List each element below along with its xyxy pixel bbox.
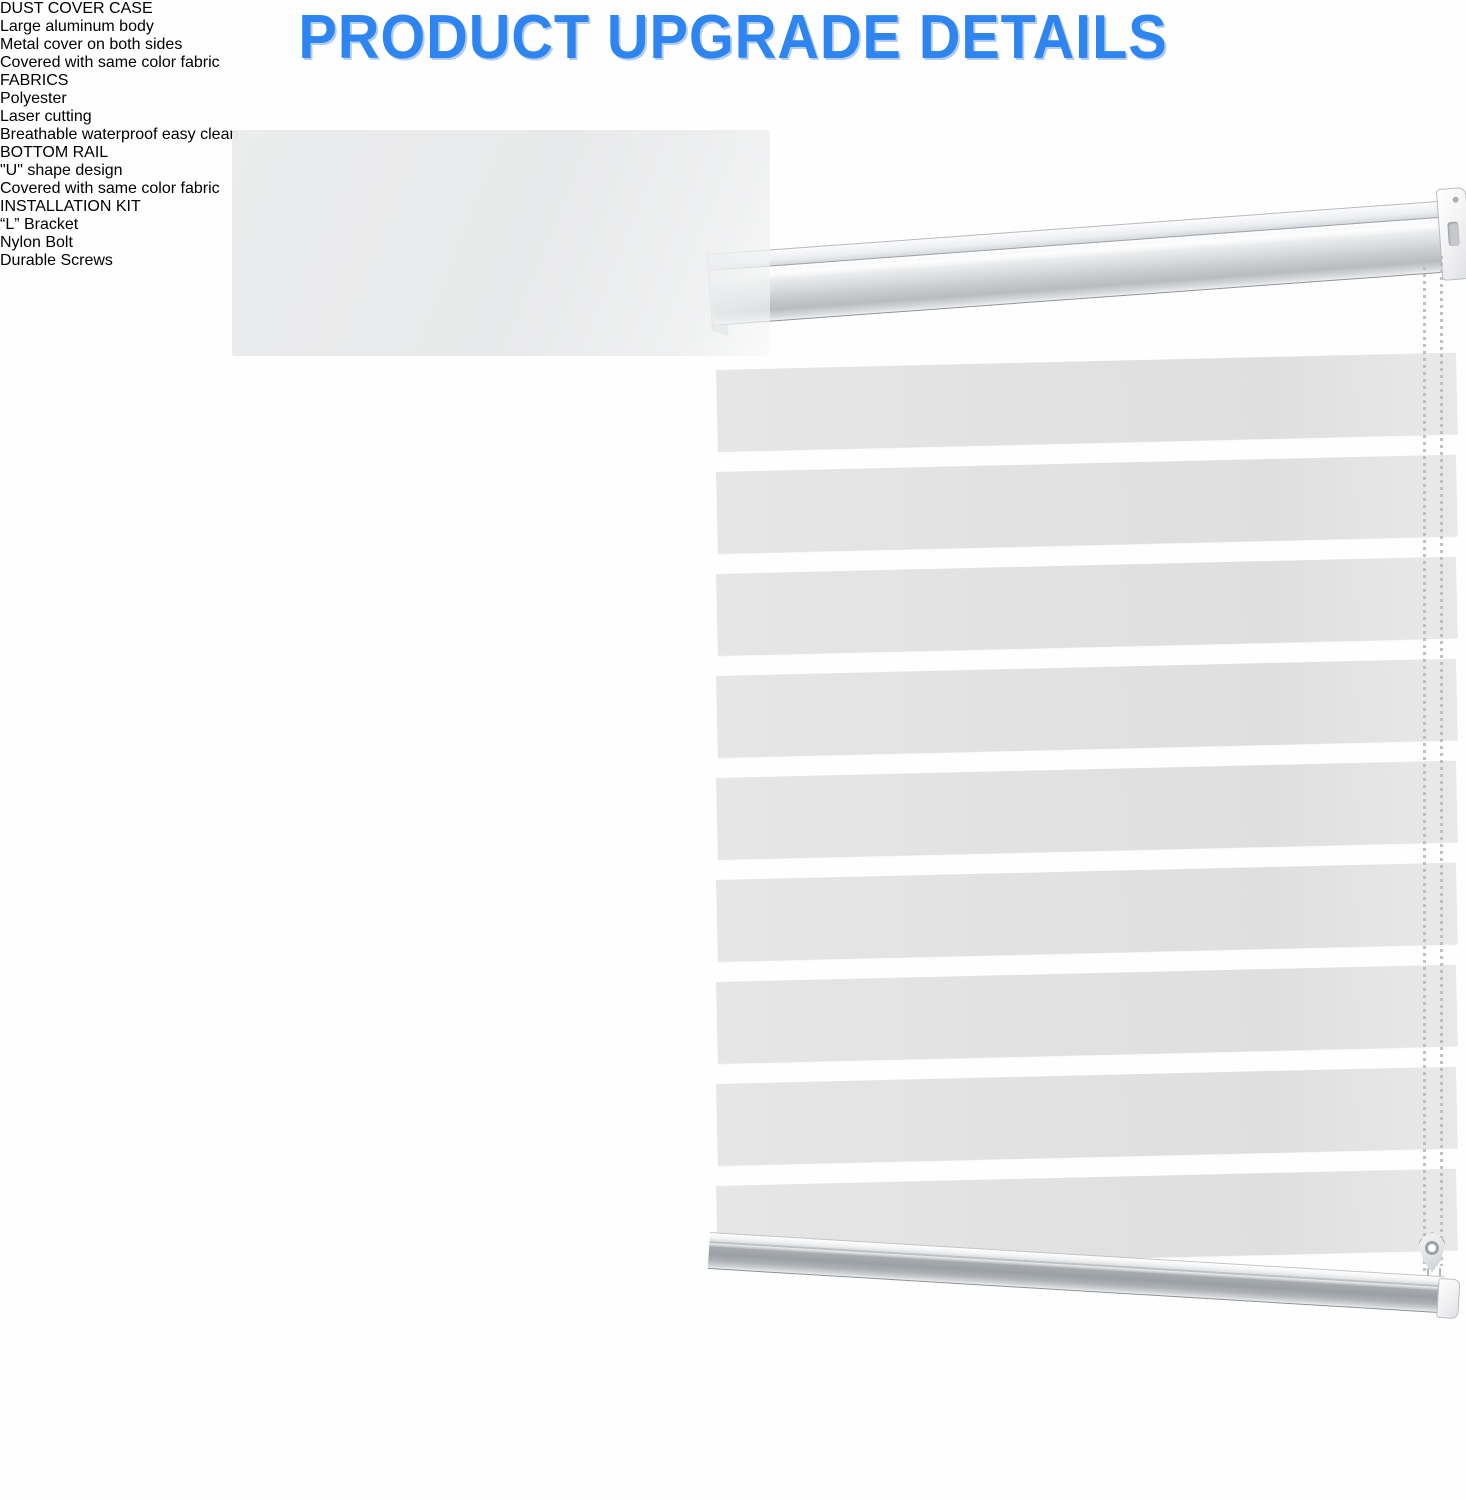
- infographic-canvas: PRODUCT UPGRADE DETAILS: [0, 0, 1466, 1500]
- blind-fabric-stripe: [716, 455, 1458, 554]
- blind-fabric-stripe: [716, 863, 1458, 962]
- tensioner-ring: [1425, 1241, 1439, 1255]
- callout-title-fabrics: FABRICS: [0, 72, 1466, 90]
- blind-fabric-stripe: [716, 659, 1458, 758]
- bullet-item: Polyester: [0, 90, 1466, 108]
- bottom-rail-endcap: [1436, 1278, 1460, 1319]
- headrail-endcap-slot: [1447, 222, 1460, 247]
- blind-fabric-stripe: [716, 1067, 1458, 1166]
- blind-fabric-stripe: [716, 761, 1458, 860]
- zebra-roller-blind-photo: [700, 210, 1466, 1350]
- callout-panel-dust-cover-case: [232, 130, 770, 356]
- bead-chain: [1423, 260, 1426, 1275]
- bead-chain: [1440, 256, 1443, 1266]
- blind-bottom-rail: [703, 1232, 1457, 1397]
- blind-fabric-stripe: [716, 965, 1458, 1064]
- blind-fabric-stripe: [716, 557, 1458, 656]
- page-title: PRODUCT UPGRADE DETAILS: [51, 2, 1414, 73]
- bullet-item: Laser cutting: [0, 108, 1466, 126]
